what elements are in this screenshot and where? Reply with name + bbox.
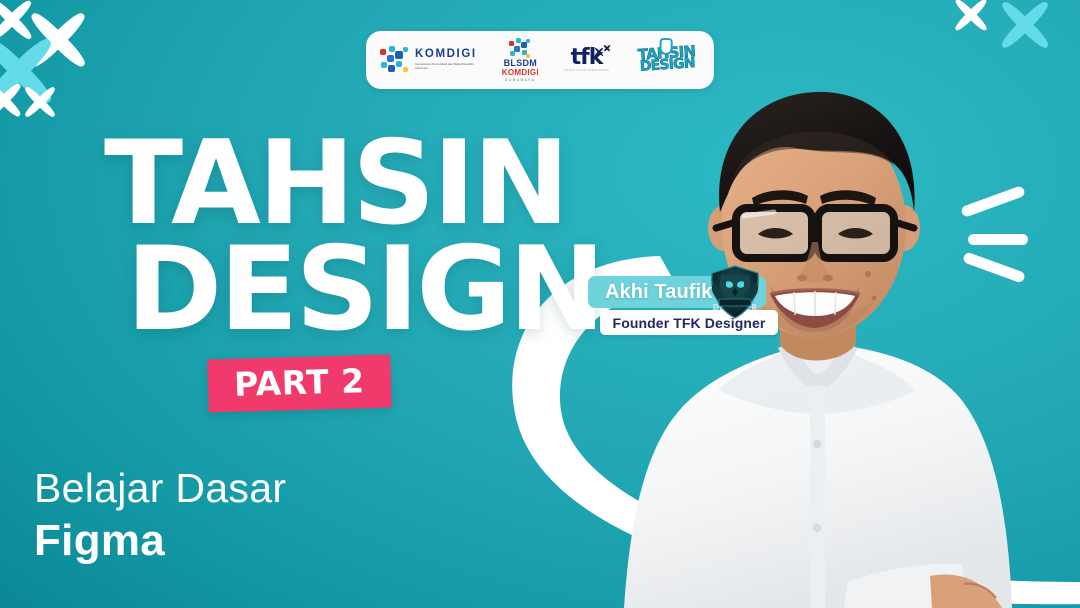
sparkle-x-icon [950, 0, 992, 36]
sparkle-x-icon [994, 0, 1056, 56]
subtitle-line1: Belajar Dasar [34, 466, 286, 512]
tfk-sparkle-icon [593, 45, 615, 59]
thumbnail-canvas: KOMDIGI Kementerian Komunikasi dan Digit… [0, 0, 1080, 608]
headline-block: TAHSIN DESIGN [104, 134, 624, 340]
blsdm-line3: SURABAYA [505, 79, 535, 82]
logo-blsdm: BLSDM KOMDIGI SURABAYA [502, 38, 539, 82]
partner-logo-bar: KOMDIGI Kementerian Komunikasi dan Digit… [366, 31, 714, 89]
part-badge-label: PART 2 [234, 364, 365, 401]
tahsin-logo-line2: DESIGN [640, 58, 696, 75]
tfk-designer-emblem-icon [708, 265, 762, 319]
komdigi-dots-icon [380, 45, 410, 75]
logo-tfk: tfk TAUFIK FAJAR KREATIVINDO [564, 48, 610, 73]
subtitle-block: Belajar Dasar Figma [34, 466, 286, 565]
part-badge: PART 2 [207, 354, 391, 412]
headline-line2: DESIGN [126, 240, 624, 340]
presenter-photo [612, 76, 1080, 608]
komdigi-name: KOMDIGI [415, 49, 477, 61]
blsdm-dots-icon [509, 38, 531, 58]
blsdm-line2: KOMDIGI [502, 69, 539, 77]
presenter-name: Akhi Taufik [605, 281, 712, 304]
blsdm-line1: BLSDM [504, 59, 538, 68]
presenter-name-badge: Akhi Taufik Founder TFK Designer [588, 276, 788, 338]
sparkle-x-icon [20, 82, 60, 122]
headline-line1: TAHSIN [104, 134, 624, 234]
tahsin-bubble-icon [659, 38, 673, 55]
subtitle-line2: Figma [34, 516, 286, 565]
tfk-subtitle: TAUFIK FAJAR KREATIVINDO [564, 69, 610, 72]
logo-komdigi: KOMDIGI Kementerian Komunikasi dan Digit… [380, 45, 477, 75]
logo-tahsin-design: TAHSIN DESIGN [633, 37, 702, 84]
komdigi-subtitle: Kementerian Komunikasi dan Digital Repub… [415, 63, 477, 71]
